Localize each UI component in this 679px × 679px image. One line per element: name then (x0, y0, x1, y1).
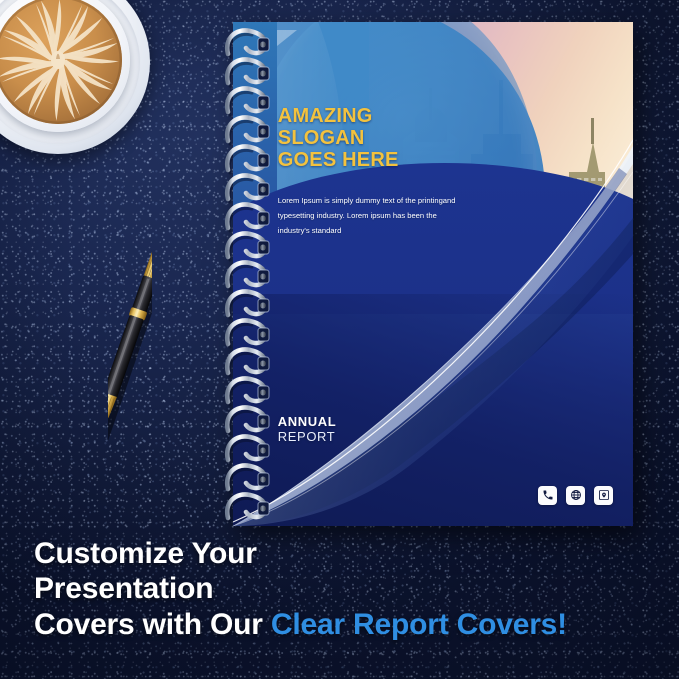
spiral-report-cover: AMAZING SLOGAN GOES HERE Lorem Ipsum is … (233, 22, 633, 526)
marketing-headline: Customize Your Presentation Covers with … (34, 536, 654, 642)
cover-body-copy: Lorem Ipsum is simply dummy text of the … (278, 194, 458, 238)
headline-line-3-plain: Covers with Our (34, 608, 271, 641)
headline-accent: Clear Report Covers! (271, 608, 567, 641)
phone-icon (538, 486, 557, 505)
globe-icon (566, 486, 585, 505)
location-pin-icon (594, 486, 613, 505)
rosetta-latte-art-icon (0, 0, 122, 124)
slogan-line-2: SLOGAN (278, 127, 399, 149)
cover-artwork: AMAZING SLOGAN GOES HERE Lorem Ipsum is … (233, 22, 633, 526)
contact-icon-row (538, 486, 613, 505)
fountain-pen (108, 224, 152, 450)
cover-slogan: AMAZING SLOGAN GOES HERE (278, 105, 399, 172)
crema-surface (0, 0, 122, 124)
headline-line-1: Customize Your (34, 536, 654, 571)
cover-footer-subtitle: REPORT (278, 429, 336, 444)
headline-line-2: Presentation (34, 571, 654, 606)
slogan-line-1: AMAZING (278, 105, 399, 127)
cover-footer: ANNUAL REPORT (278, 414, 336, 445)
product-photo: AMAZING SLOGAN GOES HERE Lorem Ipsum is … (0, 0, 679, 679)
cover-footer-title: ANNUAL (278, 414, 336, 429)
spiral-binding (222, 22, 278, 526)
slogan-line-3: GOES HERE (278, 149, 399, 171)
cappuccino-cup (0, 0, 150, 154)
pen-icon (108, 224, 152, 450)
headline-line-3: Covers with Our Clear Report Covers! (34, 607, 654, 642)
